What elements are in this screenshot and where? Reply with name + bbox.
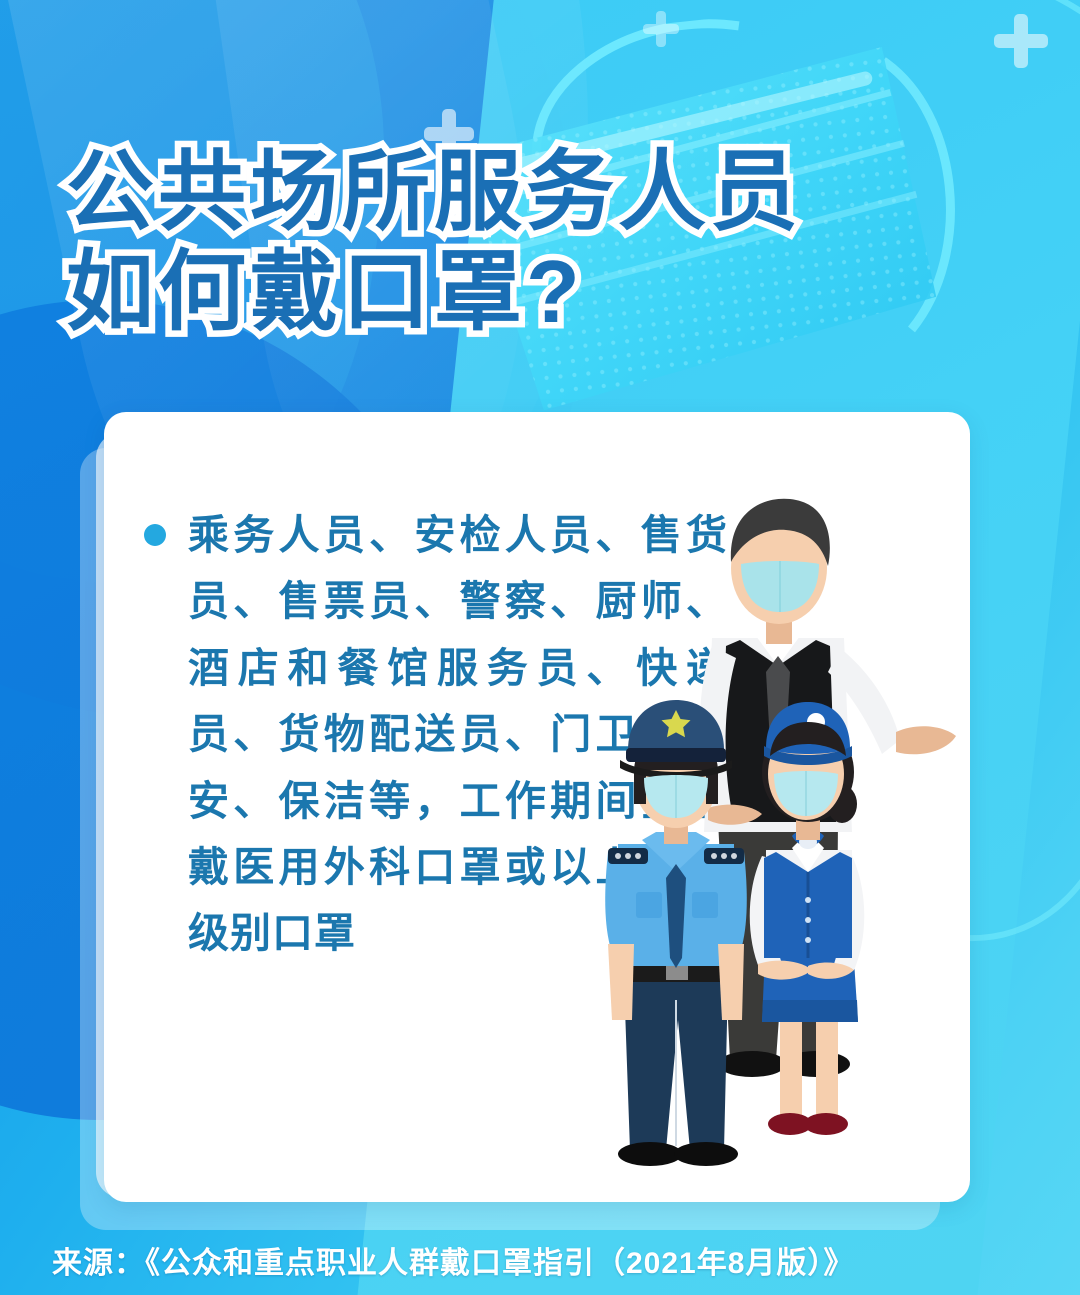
poster-canvas: 公共场所服务人员 如何戴口罩? 乘务人员、安检人员、售货员、售票员、警察、厨师、…	[0, 0, 1080, 1295]
title-line-1: 公共场所服务人员	[66, 140, 966, 244]
figure-security-guard	[605, 700, 747, 1166]
plus-cross-icon	[640, 8, 682, 50]
bullet-dot-icon	[144, 524, 166, 546]
service-workers-illustration	[600, 460, 960, 1190]
content-card: 乘务人员、安检人员、售货员、售票员、警察、厨师、酒店和餐馆服务员、快递员、货物配…	[104, 412, 970, 1202]
plus-cross-icon	[990, 10, 1052, 72]
title-line-2: 如何戴口罩?	[66, 240, 966, 344]
page-title: 公共场所服务人员 如何戴口罩?	[66, 140, 966, 344]
source-text: 来源：《公众和重点职业人群戴口罩指引（2021年8月版）》	[52, 1238, 854, 1282]
